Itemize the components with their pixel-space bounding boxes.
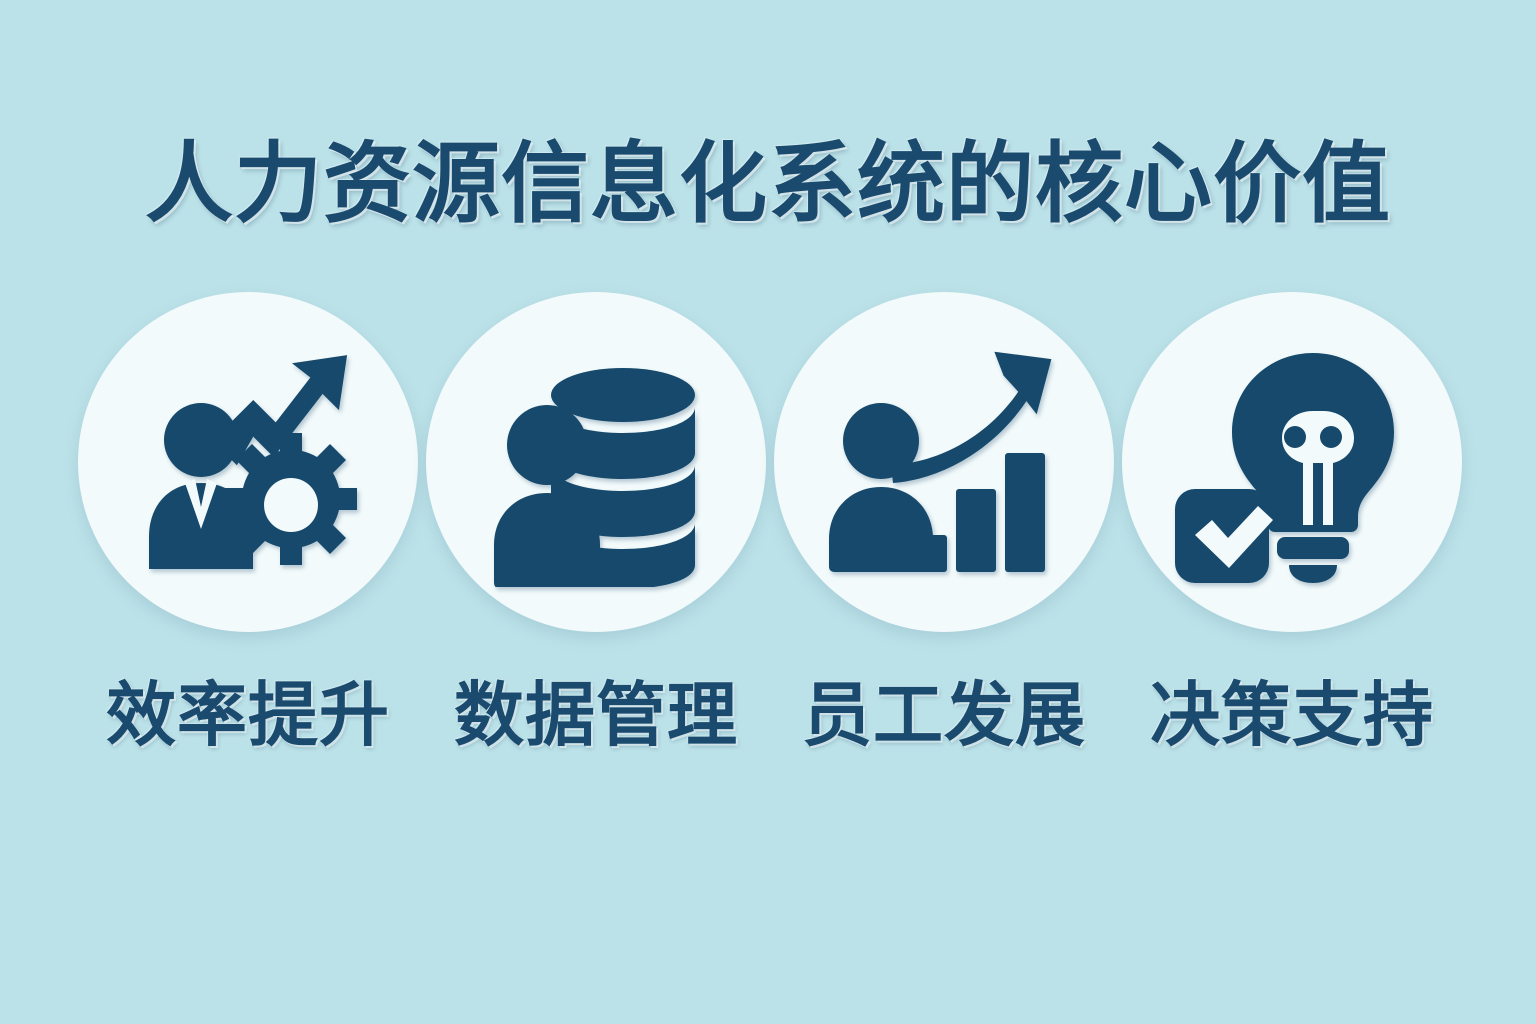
infographic-poster: 人力资源信息化系统的核心价值 [0, 0, 1536, 1024]
page-title: 人力资源信息化系统的核心价值 [145, 139, 1391, 229]
value-card-label-efficiency: 效率提升 [106, 680, 390, 750]
value-card-data-management[interactable]: 数据管理 [426, 292, 766, 750]
icon-circle-employee-development [774, 292, 1114, 632]
title-container: 人力资源信息化系统的核心价值 [0, 80, 1536, 288]
value-card-label-data-management: 数据管理 [454, 680, 738, 750]
businessperson-gear-growth-arrow-icon [123, 337, 373, 587]
icon-circle-data-management [426, 292, 766, 632]
lightbulb-checkmark-icon [1167, 337, 1417, 587]
person-database-icon [471, 337, 721, 587]
icon-circle-decision-support [1122, 292, 1462, 632]
value-card-employee-development[interactable]: 员工发展 [774, 292, 1114, 750]
value-card-label-decision-support: 决策支持 [1150, 680, 1434, 750]
person-bar-chart-growth-arrow-icon [819, 337, 1069, 587]
value-card-label-employee-development: 员工发展 [802, 680, 1086, 750]
value-card-decision-support[interactable]: 决策支持 [1122, 292, 1462, 750]
icon-circle-efficiency [78, 292, 418, 632]
value-card-efficiency[interactable]: 效率提升 [78, 292, 418, 750]
value-cards-row: 效率提升 数据 [78, 292, 1462, 750]
